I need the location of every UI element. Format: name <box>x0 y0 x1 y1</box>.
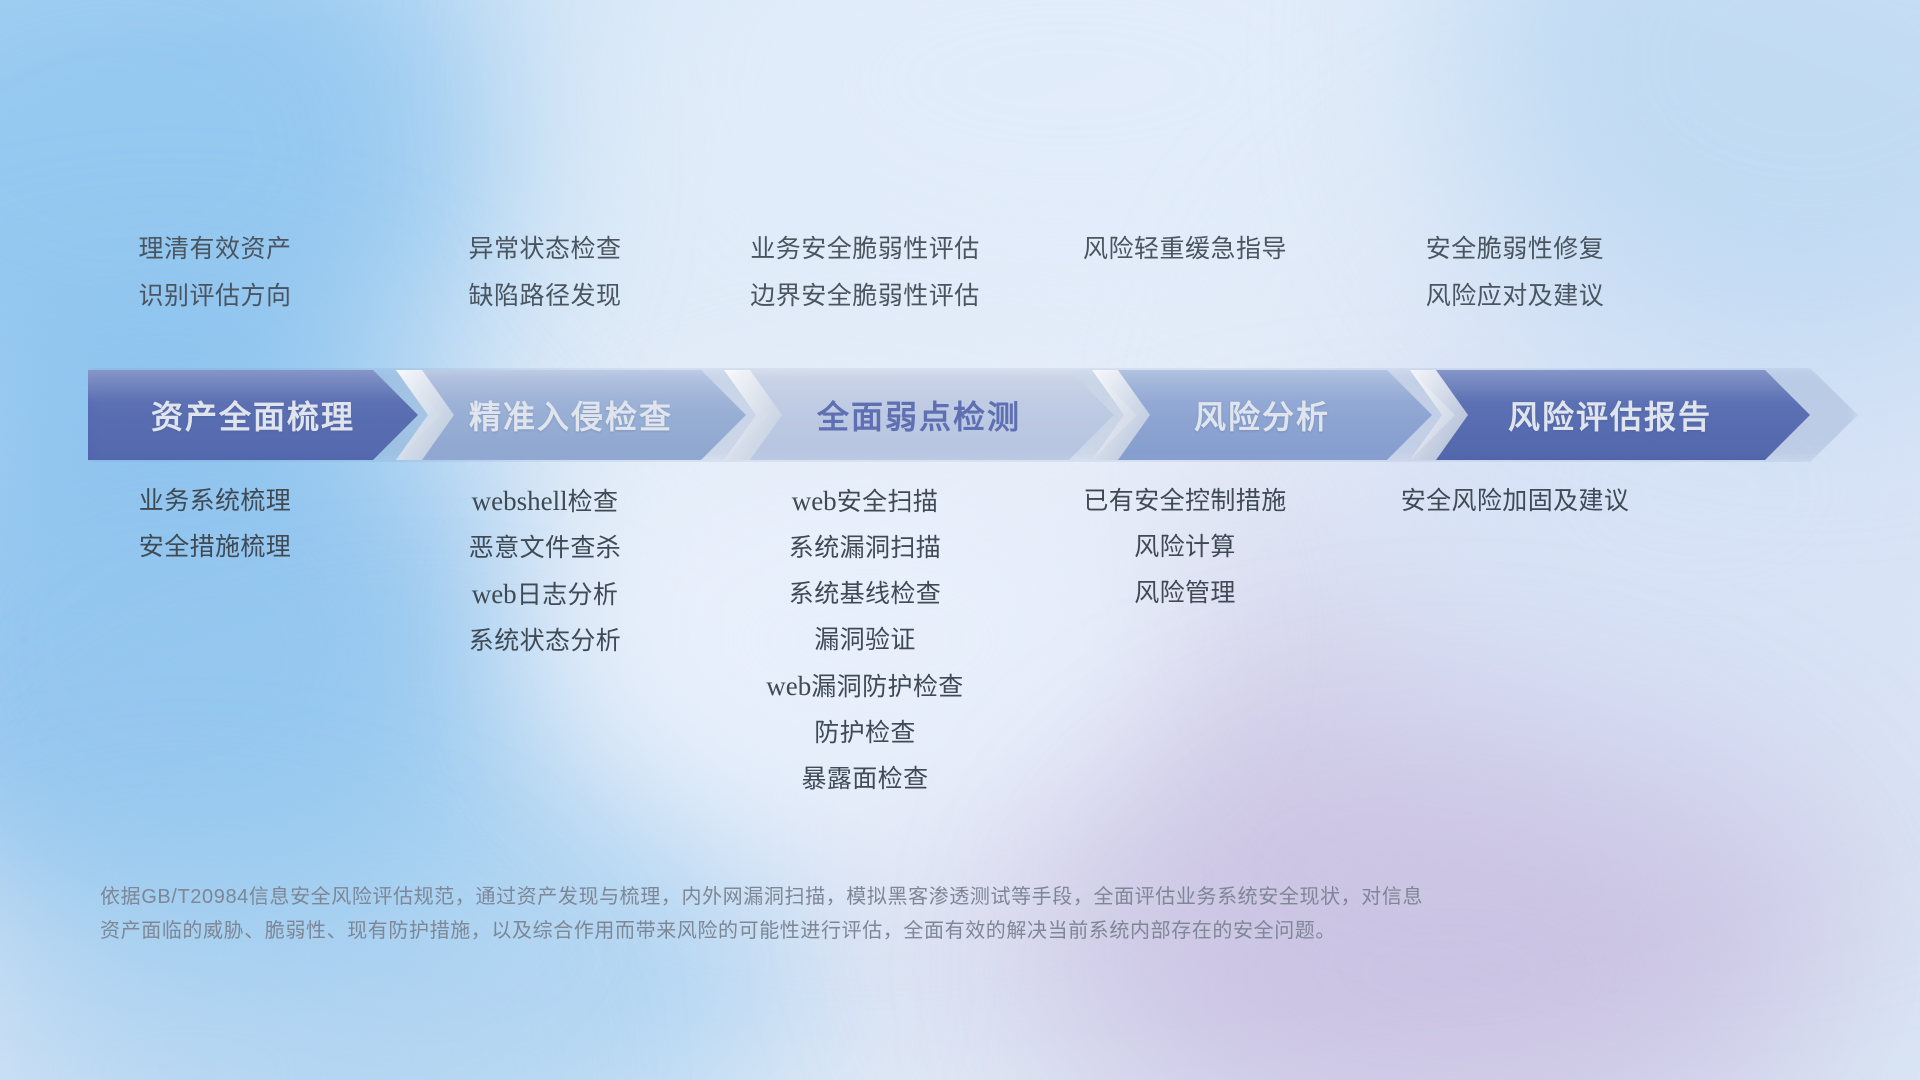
list-item: 系统漏洞扫描 <box>695 525 1035 571</box>
list-item: 安全措施梳理 <box>35 524 395 570</box>
top-label: 缺陷路径发现 <box>395 273 695 320</box>
top-label: 识别评估方向 <box>35 273 395 320</box>
items-stage-5: 安全风险加固及建议 <box>1335 478 1695 524</box>
list-item: web安全扫描 <box>695 478 1035 525</box>
items-stage-2: webshell检查 恶意文件查杀 web日志分析 系统状态分析 <box>395 478 695 664</box>
list-item: 防护检查 <box>695 710 1035 756</box>
list-item: 风险计算 <box>1035 524 1335 570</box>
list-item-suffix: 日志分析 <box>517 581 619 609</box>
top-label: 业务安全脆弱性评估 <box>695 226 1035 273</box>
top-label: 安全脆弱性修复 <box>1335 226 1695 273</box>
top-labels-stage-2: 异常状态检查 缺陷路径发现 <box>395 226 695 320</box>
top-label: 理清有效资产 <box>35 226 395 273</box>
items-stage-4: 已有安全控制措施 风险计算 风险管理 <box>1035 478 1335 616</box>
top-labels-stage-1: 理清有效资产 识别评估方向 <box>35 226 395 320</box>
top-label: 风险应对及建议 <box>1335 273 1695 320</box>
footer-line-1: 依据GB/T20984信息安全风险评估规范，通过资产发现与梳理，内外网漏洞扫描，… <box>100 880 1660 914</box>
list-item: 风险管理 <box>1035 570 1335 616</box>
footer-line-2: 资产面临的威胁、脆弱性、现有防护措施，以及综合作用而带来风险的可能性进行评估，全… <box>100 914 1660 948</box>
top-labels-stage-4: 风险轻重缓急指导 <box>1035 226 1335 320</box>
footer-description: 依据GB/T20984信息安全风险评估规范，通过资产发现与梳理，内外网漏洞扫描，… <box>100 880 1660 948</box>
process-diagram: 理清有效资产 识别评估方向 异常状态检查 缺陷路径发现 业务安全脆弱性评估 边界… <box>0 0 1920 1080</box>
items-stage-1: 业务系统梳理 安全措施梳理 <box>35 478 395 570</box>
list-item: 安全风险加固及建议 <box>1335 478 1695 524</box>
list-item: web日志分析 <box>395 571 695 618</box>
list-item-suffix: 漏洞防护检查 <box>811 673 963 701</box>
top-label-row: 理清有效资产 识别评估方向 异常状态检查 缺陷路径发现 业务安全脆弱性评估 边界… <box>0 226 1920 320</box>
list-item: 系统基线检查 <box>695 571 1035 617</box>
list-item: 业务系统梳理 <box>35 478 395 524</box>
chevron-band-shadow <box>88 368 1858 462</box>
list-item: 暴露面检查 <box>695 756 1035 802</box>
list-item: web漏洞防护检查 <box>695 663 1035 710</box>
list-item: 恶意文件查杀 <box>395 525 695 571</box>
list-item-suffix: 安全扫描 <box>837 488 939 516</box>
list-item: 已有安全控制措施 <box>1035 478 1335 524</box>
top-label: 异常状态检查 <box>395 226 695 273</box>
top-labels-stage-5: 安全脆弱性修复 风险应对及建议 <box>1335 226 1695 320</box>
top-label: 边界安全脆弱性评估 <box>695 273 1035 320</box>
list-item: 系统状态分析 <box>395 618 695 664</box>
top-labels-stage-3: 业务安全脆弱性评估 边界安全脆弱性评估 <box>695 226 1035 320</box>
items-stage-3: web安全扫描 系统漏洞扫描 系统基线检查 漏洞验证 web漏洞防护检查 防护检… <box>695 478 1035 802</box>
list-item-suffix: 检查 <box>568 488 619 516</box>
bottom-list-row: 业务系统梳理 安全措施梳理 webshell检查 恶意文件查杀 web日志分析 … <box>0 478 1920 802</box>
top-label: 风险轻重缓急指导 <box>1035 226 1335 273</box>
list-item: 漏洞验证 <box>695 617 1035 663</box>
list-item: webshell检查 <box>395 478 695 525</box>
